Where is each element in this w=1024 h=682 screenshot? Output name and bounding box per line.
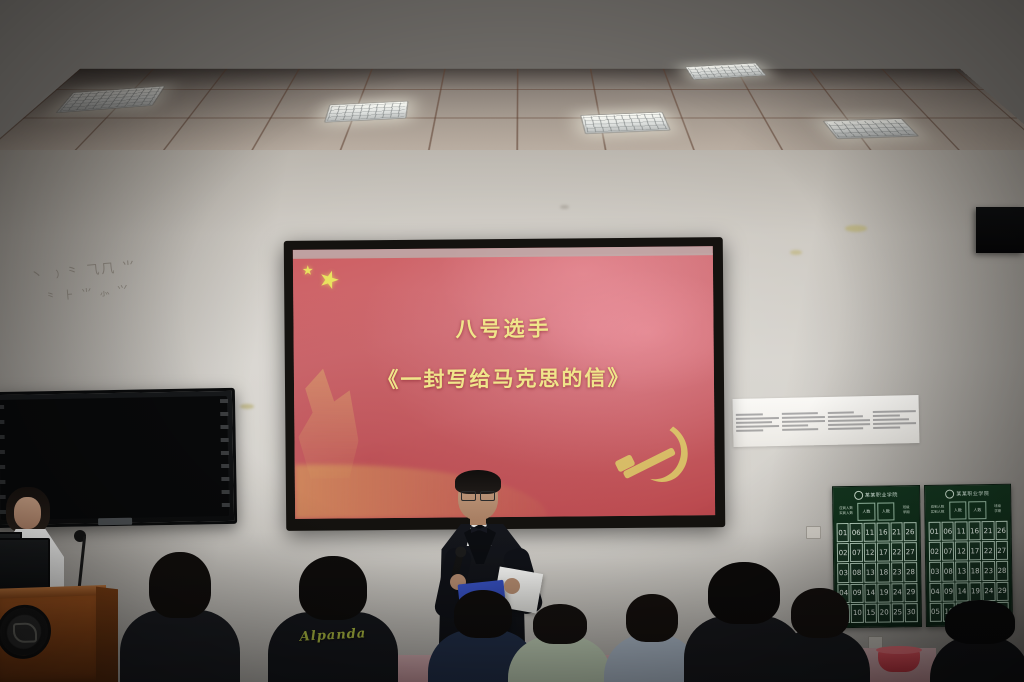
audience-member-alpanda-shirt: Alpanda xyxy=(268,548,398,682)
board-number-cell: 28 xyxy=(904,562,917,581)
board-number-cell: 02 xyxy=(837,543,850,562)
board-number-cell: 07 xyxy=(942,542,955,561)
board-number-cell: 02 xyxy=(928,542,941,561)
board-number-cell: 12 xyxy=(955,542,968,561)
board-title: 某某职业学院 xyxy=(956,490,989,497)
board-number-cell: 18 xyxy=(969,562,982,581)
power-outlet[interactable] xyxy=(806,526,821,539)
display-logo-bar xyxy=(98,518,132,526)
board-number-cell: 26 xyxy=(904,522,917,541)
board-header: 某某职业学院 xyxy=(836,489,916,501)
audience-torso xyxy=(120,610,240,682)
board-header: 某某职业学院 xyxy=(928,488,1008,500)
board-title: 某某职业学院 xyxy=(865,491,898,498)
board-number-cell: 23 xyxy=(982,561,995,580)
wooden-podium xyxy=(0,592,102,682)
board-number-cell: 21 xyxy=(890,522,903,541)
audience-head xyxy=(791,588,849,638)
flag-star-icon: ★ xyxy=(315,266,343,295)
wall-speaker xyxy=(976,207,1024,253)
computer-monitor xyxy=(0,538,50,590)
wall-regulations-poster xyxy=(733,395,920,447)
board-subheader: 应到人数实到人数人数人数班级学期 xyxy=(836,502,916,521)
board-count-box: 人数 xyxy=(968,501,986,519)
board-number-cell: 16 xyxy=(877,522,890,541)
board-crest-icon xyxy=(854,491,863,500)
board-number-cell: 11 xyxy=(955,521,968,540)
board-count-box: 人数 xyxy=(858,503,876,521)
board-number-cell: 06 xyxy=(850,523,863,542)
board-number-cell: 22 xyxy=(890,542,903,561)
hammer-and-sickle-emblem xyxy=(600,417,705,490)
wall-stain xyxy=(240,404,254,409)
poster-column xyxy=(873,399,917,440)
board-number-cell: 16 xyxy=(968,521,981,540)
audience-head xyxy=(533,604,587,644)
poster-column xyxy=(736,402,780,443)
board-number-cell: 01 xyxy=(928,522,941,541)
shirt-print-text: Alpanda xyxy=(299,626,366,644)
board-subheader: 应到人数实到人数人数人数班级学期 xyxy=(928,501,1008,520)
board-number-cell: 26 xyxy=(995,521,1008,540)
board-number-cell: 21 xyxy=(982,521,995,540)
board-number-cell: 27 xyxy=(995,541,1008,560)
board-number-cell: 25 xyxy=(891,603,904,622)
board-label: 应到人数实到人数 xyxy=(928,502,948,520)
audience-torso: Alpanda xyxy=(268,612,398,682)
board-number-cell: 08 xyxy=(942,562,955,581)
board-label: 班级学期 xyxy=(896,502,916,520)
board-number-cell: 11 xyxy=(863,523,876,542)
audience-head xyxy=(454,590,512,638)
board-number-cell: 30 xyxy=(905,603,918,622)
audience-member-long-hair xyxy=(770,580,870,682)
slide-subtitle-line: 《一封写给马克思的信》 xyxy=(294,361,714,395)
board-number-cell: 13 xyxy=(955,562,968,581)
board-number-cell: 03 xyxy=(929,562,942,581)
board-number-cell: 27 xyxy=(904,542,917,561)
board-count-box: 人数 xyxy=(877,502,895,520)
red-plastic-bowl xyxy=(878,650,920,672)
glasses-icon xyxy=(461,491,495,499)
board-count-box: 人数 xyxy=(949,501,967,519)
audience-head xyxy=(626,594,678,642)
poster-column xyxy=(781,401,825,442)
board-number-cell: 19 xyxy=(878,583,891,602)
classroom-scene-photo: 丶 ﹚⺀ ⺄⺇ ⺌ ⺀ ⺊ ⺌ ⺗ ⺍ xyxy=(0,0,1024,682)
podium-side-panel xyxy=(96,587,118,682)
slide-text-block: 八号选手 《一封写给马克思的信》 xyxy=(293,311,714,395)
wall-stain xyxy=(845,225,867,232)
board-number-cell: 01 xyxy=(837,523,850,542)
school-crest-emblem xyxy=(0,604,51,660)
board-number-cell: 24 xyxy=(891,583,904,602)
board-crest-icon xyxy=(945,490,954,499)
poster-column xyxy=(827,400,871,441)
host-face xyxy=(14,497,41,529)
board-number-cell: 20 xyxy=(878,603,891,622)
audience-member-black-cap xyxy=(930,592,1024,682)
flag-star-icon: ★ xyxy=(302,264,314,277)
audience-head xyxy=(945,600,1015,644)
audience-head xyxy=(149,552,211,618)
board-number-cell: 18 xyxy=(877,563,890,582)
board-number-cell: 22 xyxy=(982,541,995,560)
board-number-cell: 17 xyxy=(877,543,890,562)
board-number-cell: 12 xyxy=(864,543,877,562)
wall-stain xyxy=(790,250,802,255)
board-number-cell: 28 xyxy=(996,561,1009,580)
audience-member-left-dark-shirt xyxy=(120,544,240,682)
wall-stain xyxy=(560,205,569,209)
board-number-cell: 06 xyxy=(941,522,954,541)
slide-title-line: 八号选手 xyxy=(293,311,713,345)
board-number-cell: 23 xyxy=(891,563,904,582)
audience-member-green-top xyxy=(508,596,612,682)
board-number-cell: 17 xyxy=(969,541,982,560)
board-number-cell: 29 xyxy=(904,583,917,602)
board-label: 应到人数实到人数 xyxy=(836,503,856,521)
board-label: 班级学期 xyxy=(988,501,1008,519)
board-number-cell: 07 xyxy=(850,543,863,562)
display-side-buttons[interactable] xyxy=(220,399,230,513)
audience-head xyxy=(299,556,367,620)
